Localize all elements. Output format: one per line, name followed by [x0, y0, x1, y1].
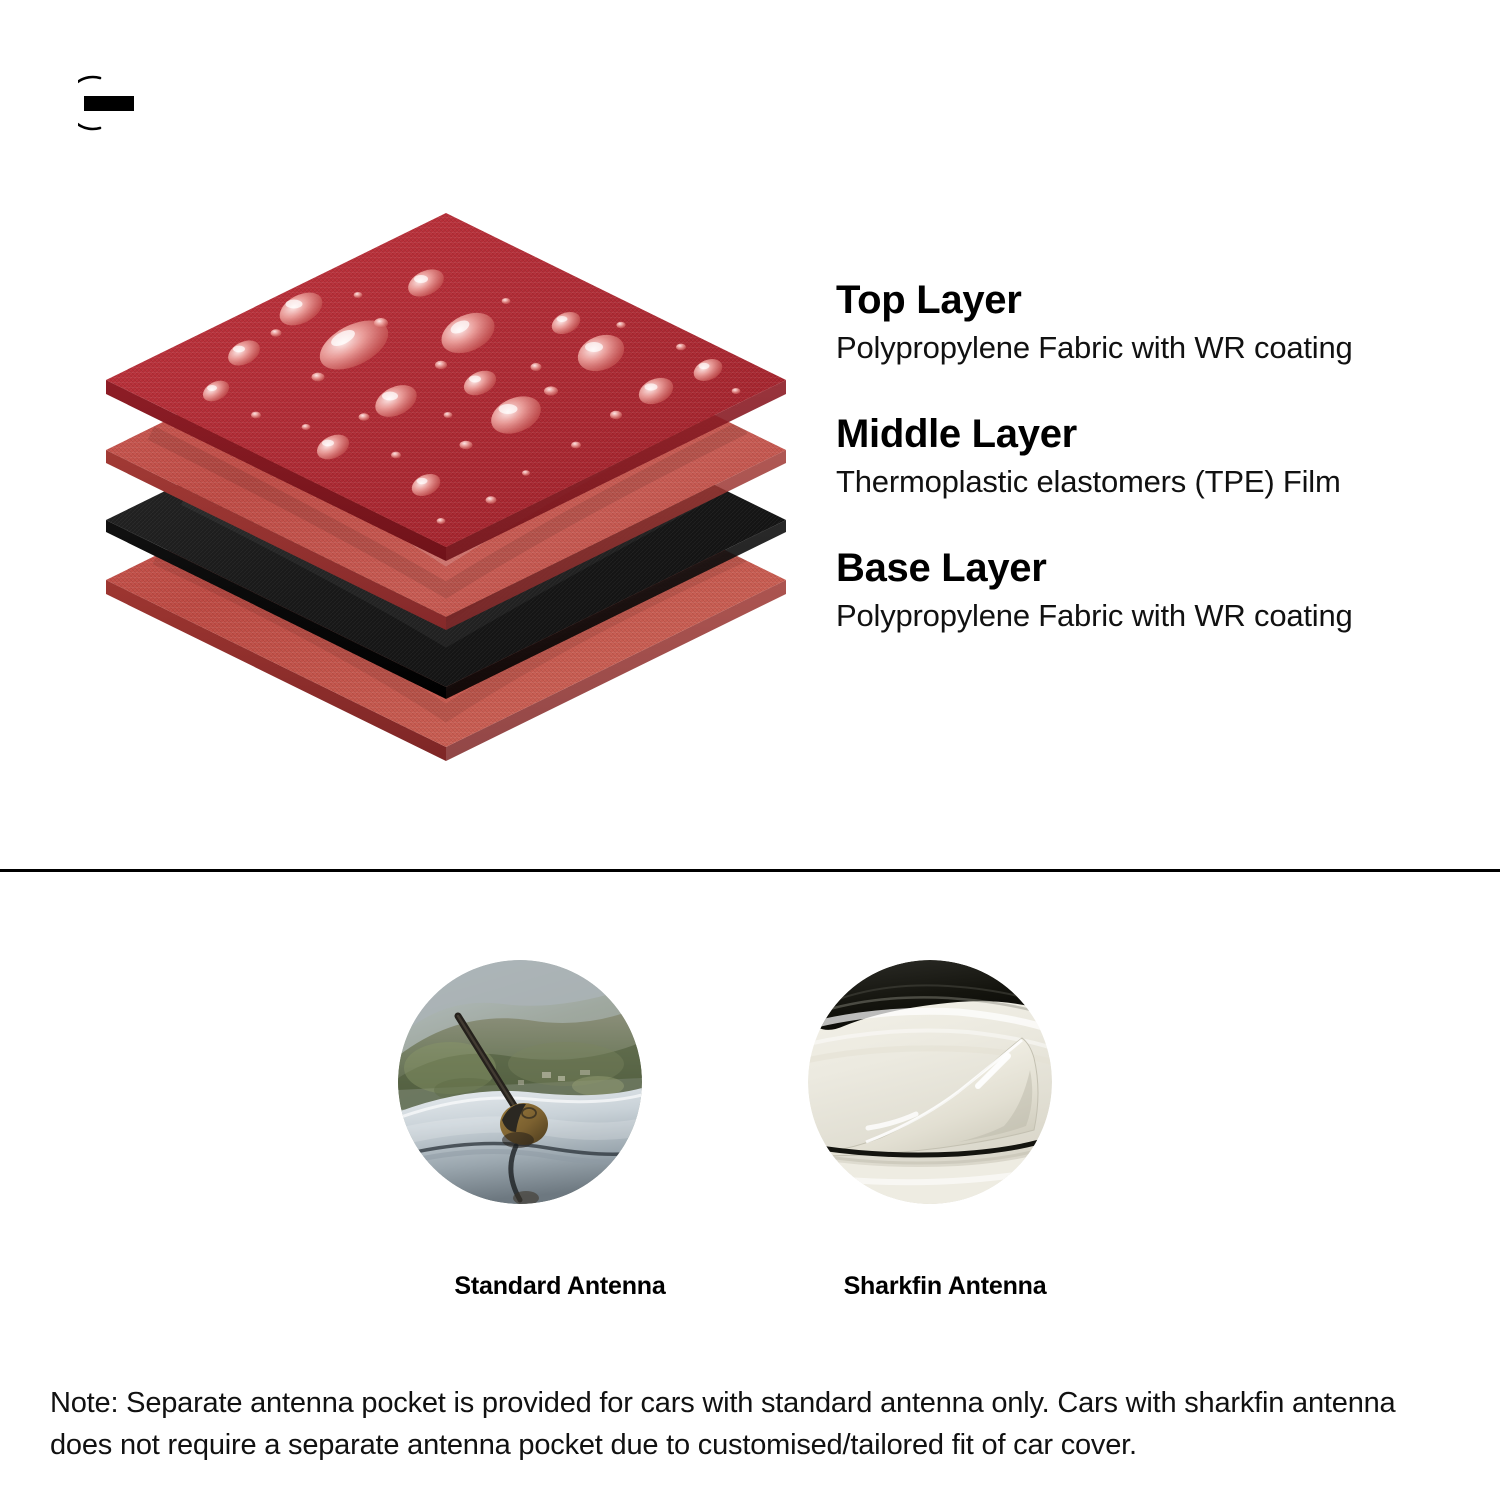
exploded-layers-diagram: [96, 205, 796, 765]
antenna-pocket-note: Note: Separate antenna pocket is provide…: [50, 1382, 1465, 1466]
arc-bar-logo-icon: [78, 72, 166, 134]
layer-description-top: Polypropylene Fabric with WR coating: [836, 329, 1476, 366]
layer-title-base: Base Layer: [836, 546, 1476, 591]
antenna-label-sharkfin: Sharkfin Antenna: [795, 1272, 1095, 1301]
sharkfin-antenna-photo: [808, 960, 1052, 1204]
antenna-card-sharkfin: [808, 960, 1052, 1204]
layer-description-base: Polypropylene Fabric with WR coating: [836, 597, 1476, 634]
layer-title-top: Top Layer: [836, 278, 1476, 323]
layer-description-middle: Thermoplastic elastomers (TPE) Film: [836, 463, 1476, 500]
antenna-label-standard: Standard Antenna: [410, 1272, 710, 1301]
antenna-card-standard: [398, 960, 642, 1204]
standard-mast-antenna-photo: [398, 960, 642, 1204]
layer-info-middle: Middle Layer Thermoplastic elastomers (T…: [836, 412, 1476, 500]
layer-info-base: Base Layer Polypropylene Fabric with WR …: [836, 546, 1476, 634]
layer-title-middle: Middle Layer: [836, 412, 1476, 457]
section-divider: [0, 869, 1500, 872]
antenna-comparison-row: [0, 960, 1500, 1220]
layer-info-top: Top Layer Polypropylene Fabric with WR c…: [836, 278, 1476, 366]
brand-logo: [78, 72, 166, 134]
